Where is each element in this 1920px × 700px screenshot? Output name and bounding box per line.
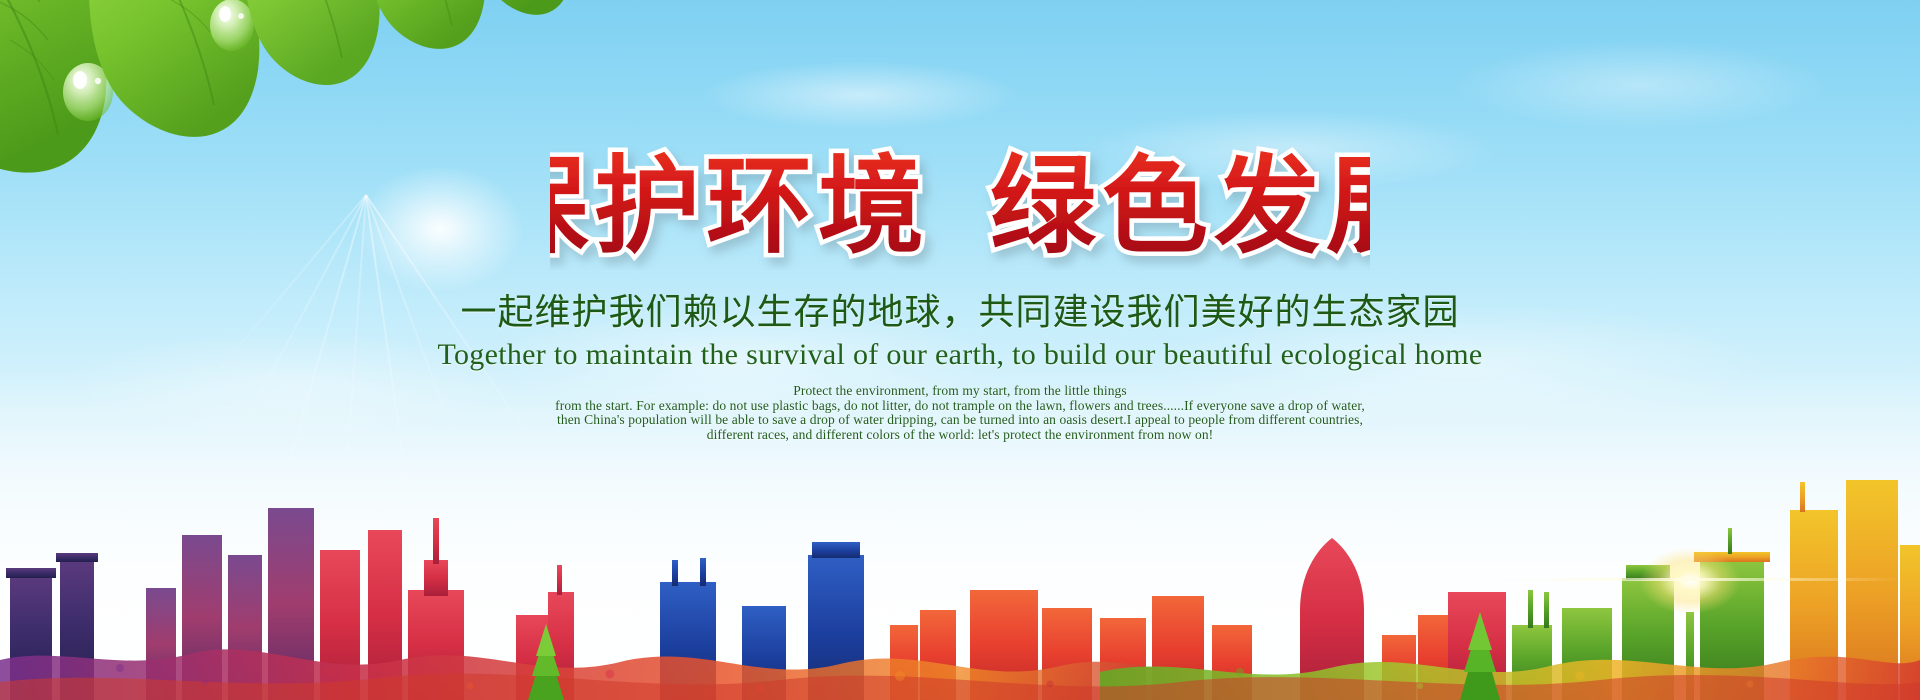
leaf-icon bbox=[89, 0, 259, 137]
subtitle-english: Together to maintain the survival of our… bbox=[0, 338, 1920, 373]
environment-banner: 保护环境 绿色发展 一起维护我们赖以生存的地球，共同建设我们美好的生态家园 To… bbox=[0, 0, 1920, 700]
subtitle-chinese: 一起维护我们赖以生存的地球，共同建设我们美好的生态家园 bbox=[0, 292, 1920, 332]
leaf-icon bbox=[366, 0, 485, 49]
cloud-wisp bbox=[1450, 40, 1830, 130]
leaf-icon bbox=[474, 0, 573, 15]
text-stack: 保护环境 绿色发展 一起维护我们赖以生存的地球，共同建设我们美好的生态家园 To… bbox=[0, 145, 1920, 442]
paragraph-line-2: from the start. For example: do not use … bbox=[0, 399, 1920, 414]
watercolor-city-skyline bbox=[0, 410, 1920, 700]
cloud-wisp bbox=[700, 60, 1020, 130]
sun-flare-beam bbox=[1500, 578, 1900, 581]
paragraph-line-3: then China's population will be able to … bbox=[0, 413, 1920, 428]
water-droplet-icon bbox=[210, 0, 254, 51]
leaf-icon bbox=[244, 0, 380, 85]
body-paragraph: Protect the environment, from my start, … bbox=[0, 384, 1920, 442]
title-line-part2: 绿色发展 bbox=[990, 149, 1370, 266]
title-artwork: 保护环境 绿色发展 bbox=[550, 145, 1370, 270]
paragraph-line-1: Protect the environment, from my start, … bbox=[0, 384, 1920, 399]
paragraph-line-4: different races, and different colors of… bbox=[0, 428, 1920, 443]
page-title: 保护环境 绿色发展 bbox=[0, 145, 1920, 270]
title-line-part1: 保护环境 bbox=[550, 149, 930, 266]
